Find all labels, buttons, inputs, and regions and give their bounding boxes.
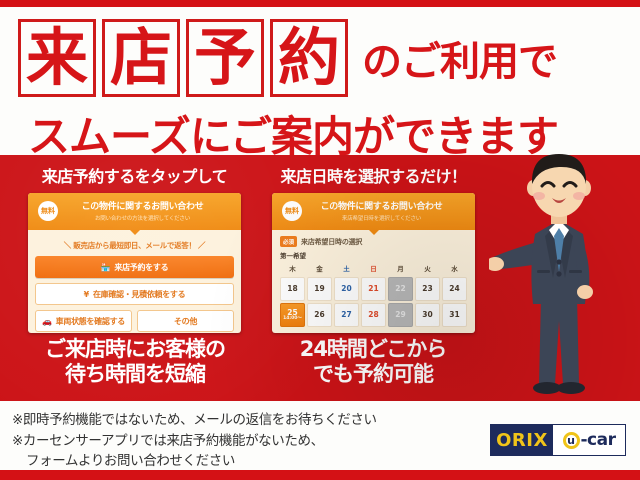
free-badge-icon-right: 無料 xyxy=(282,201,302,221)
calendar-day[interactable]: 27 xyxy=(334,303,359,327)
header-arrow-icon-right xyxy=(369,230,379,235)
day-number: 24 xyxy=(449,285,459,293)
visit-reservation-banner: 来 店 予 約 のご利用で スムーズにご案内ができます 来店予約するをタップして… xyxy=(0,0,640,480)
day-number: 27 xyxy=(341,311,351,319)
mockup-head-title-left: この物件に関するお問い合わせ xyxy=(64,199,221,212)
day-number: 29 xyxy=(395,311,405,319)
dow-thu: 木 xyxy=(280,263,305,275)
mockup-head-title-right: この物件に関するお問い合わせ xyxy=(308,199,455,212)
bottom-red-rule xyxy=(0,470,640,480)
day-number: 23 xyxy=(422,285,432,293)
headline-tail-text: のご利用で xyxy=(362,29,557,87)
column-tap-reservation: 来店予約するをタップして 無料 この物件に関するお問い合わせ お問い合わせの方法… xyxy=(12,155,257,333)
day-number: 19 xyxy=(314,285,324,293)
top-red-rule xyxy=(0,0,640,7)
caption-left: ご来店時にお客様の 待ち時間を短縮 xyxy=(10,337,260,387)
disclaimer-notes: ※即時予約機能ではないため、メールの返信をお待ちください ※カーセンサーアプリで… xyxy=(12,410,462,472)
stock-quote-label: 在庫確認・見積依頼をする xyxy=(93,289,185,300)
other-label: その他 xyxy=(174,316,197,327)
note-line-2: ※カーセンサーアプリでは来店予約機能がないため、 xyxy=(12,431,462,452)
reserve-visit-label: 来店予約をする xyxy=(114,262,168,273)
column-left-title: 来店予約するをタップして xyxy=(12,155,257,187)
column-right-title: 来店日時を選択するだけ！ xyxy=(266,155,481,187)
day-number: 20 xyxy=(341,285,351,293)
day-number: 25 xyxy=(287,309,297,317)
headline-kanji-box-1: 来 xyxy=(18,19,96,97)
day-number: 18 xyxy=(287,285,297,293)
headline-kanji-box-3: 予 xyxy=(186,19,264,97)
dow-sat: 土 xyxy=(334,263,359,275)
caption-right: 24時間どこから でも予約可能 xyxy=(262,337,484,387)
calendar-day[interactable]: 24 xyxy=(442,277,467,301)
orix-ucar-logo: ORIX u -car xyxy=(490,424,626,456)
yen-icon: ¥ xyxy=(84,290,89,299)
mockup-head-sub-left: お問い合わせの方法を選択してください xyxy=(64,214,221,222)
day-number: 28 xyxy=(368,311,378,319)
calendar-widget: 必須 来店希望日時の選択 第一希望 木 金 土 日 月 火 水 18 19 xyxy=(272,230,475,327)
vehicle-condition-button[interactable]: 🚗 車両状態を確認する xyxy=(35,310,132,332)
app-mockup-inquiry: 無料 この物件に関するお問い合わせ お問い合わせの方法を選択してください ＼ 販… xyxy=(28,193,241,333)
calendar-grid: 木 金 土 日 月 火 水 18 19 20 21 22 23 24 xyxy=(280,263,467,327)
first-choice-label: 第一希望 xyxy=(280,250,467,260)
dow-mon: 月 xyxy=(388,263,413,275)
caption-left-line1: ご来店時にお客様の xyxy=(10,337,260,362)
calendar-day-selected[interactable]: 25 14:00～ xyxy=(280,303,305,327)
dow-sun: 日 xyxy=(361,263,386,275)
ucar-text: -car xyxy=(581,430,616,450)
mockup-header-right: 無料 この物件に関するお問い合わせ 来店希望日時を選択してください xyxy=(272,193,475,230)
calendar-day[interactable]: 28 xyxy=(361,303,386,327)
salesman-illustration xyxy=(489,146,629,402)
calendar-day[interactable]: 31 xyxy=(442,303,467,327)
column-select-datetime: 来店日時を選択するだけ！ 無料 この物件に関するお問い合わせ 来店希望日時を選択… xyxy=(266,155,481,333)
calendar-day[interactable]: 21 xyxy=(361,277,386,301)
calendar-day-disabled: 22 xyxy=(388,277,413,301)
stock-quote-button[interactable]: ¥ 在庫確認・見積依頼をする xyxy=(35,283,234,305)
calendar-day[interactable]: 30 xyxy=(415,303,440,327)
required-tag: 必須 xyxy=(280,236,297,247)
storefront-icon: 🏪 xyxy=(101,263,111,272)
ucar-wordmark: u -car xyxy=(553,425,625,455)
calendar-day[interactable]: 23 xyxy=(415,277,440,301)
calendar-day-disabled: 29 xyxy=(388,303,413,327)
caption-left-line2: 待ち時間を短縮 xyxy=(10,362,260,387)
calendar-day[interactable]: 18 xyxy=(280,277,305,301)
header-arrow-icon xyxy=(130,230,140,235)
other-button[interactable]: その他 xyxy=(137,310,234,332)
day-number: 26 xyxy=(314,311,324,319)
calendar-day[interactable]: 20 xyxy=(334,277,359,301)
day-number: 21 xyxy=(368,285,378,293)
orix-wordmark: ORIX xyxy=(491,425,553,455)
free-badge-icon: 無料 xyxy=(38,201,58,221)
day-time-label: 14:00～ xyxy=(283,317,302,322)
note-line-1: ※即時予約機能ではないため、メールの返信をお待ちください xyxy=(12,410,462,431)
headline-block: 来 店 予 約 のご利用で スムーズにご案内ができます xyxy=(0,7,640,155)
vehicle-condition-label: 車両状態を確認する xyxy=(56,316,125,327)
app-mockup-calendar: 無料 この物件に関するお問い合わせ 来店希望日時を選択してください 必須 来店希… xyxy=(272,193,475,333)
headline-kanji-box-4: 約 xyxy=(270,19,348,97)
calendar-section-label: 来店希望日時の選択 xyxy=(301,237,362,247)
calendar-day[interactable]: 19 xyxy=(307,277,332,301)
note-line-3: フォームよりお問い合わせください xyxy=(12,451,462,472)
headline-kanji-box-2: 店 xyxy=(102,19,180,97)
dow-wed: 水 xyxy=(442,263,467,275)
ucar-u-circle-icon: u xyxy=(563,432,580,449)
dow-fri: 金 xyxy=(307,263,332,275)
calendar-day[interactable]: 26 xyxy=(307,303,332,327)
headline-line-1: 来 店 予 約 のご利用で xyxy=(18,19,557,97)
dow-tue: 火 xyxy=(415,263,440,275)
reserve-visit-button[interactable]: 🏪 来店予約をする xyxy=(35,256,234,278)
day-number: 31 xyxy=(449,311,459,319)
day-number: 30 xyxy=(422,311,432,319)
car-icon: 🚗 xyxy=(42,317,52,326)
promo-text: ＼ 販売店から最短即日、メールで返答！ ／ xyxy=(35,240,234,251)
caption-right-line2: でも予約可能 xyxy=(262,362,484,387)
day-number: 22 xyxy=(395,285,405,293)
caption-right-line1: 24時間どこから xyxy=(262,337,484,362)
mockup-header-left: 無料 この物件に関するお問い合わせ お問い合わせの方法を選択してください xyxy=(28,193,241,230)
mockup-head-sub-right: 来店希望日時を選択してください xyxy=(308,214,455,222)
